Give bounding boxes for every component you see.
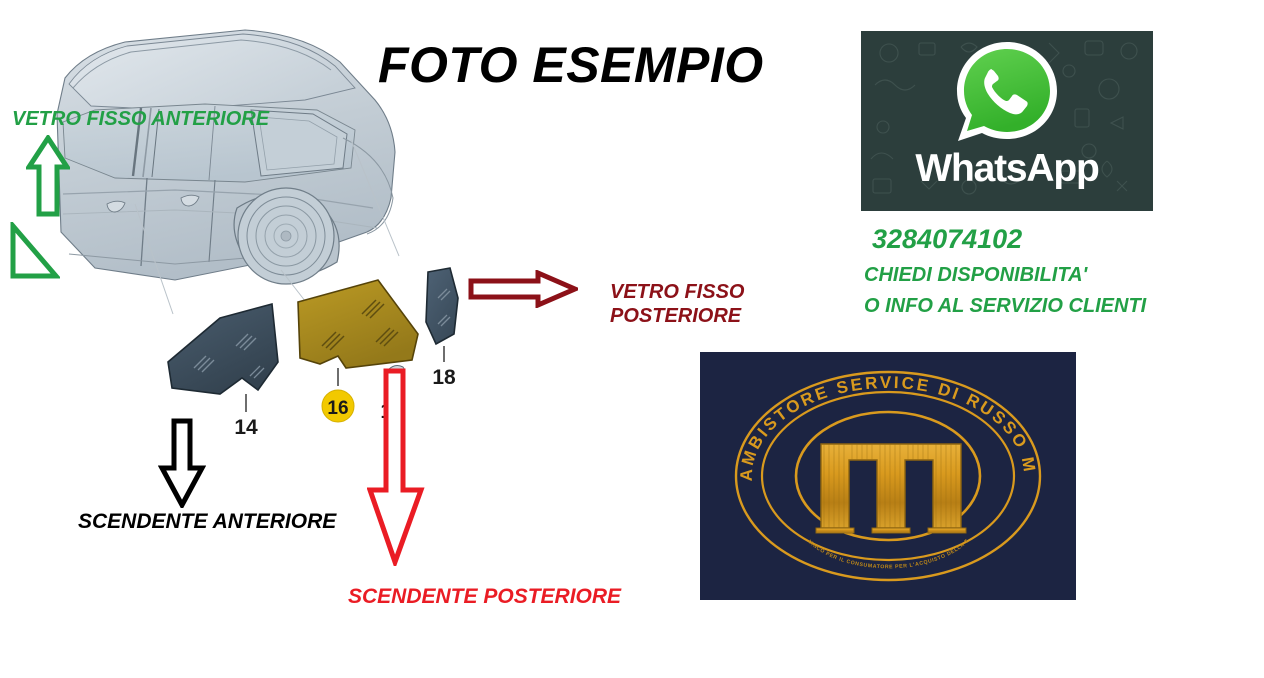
whatsapp-wordmark: WhatsApp [861,147,1153,191]
contact-line-1: CHIEDI DISPONIBILITA' [864,264,1087,287]
part-18-shape [426,268,458,362]
whatsapp-logo-icon [955,40,1059,144]
logo-monogram [816,444,966,533]
part-number-14: 14 [234,416,258,439]
green-triangle-icon [8,222,60,280]
whatsapp-banner[interactable]: WhatsApp [861,31,1153,211]
part-14-shape [168,304,278,412]
page-title: FOTO ESEMPIO [378,36,764,94]
phone-number[interactable]: 3284074102 [872,224,1022,255]
callout-line-2: POSTERIORE [610,305,744,329]
callout-vetro-fisso-anteriore: VETRO FISSO ANTERIORE [12,108,269,132]
callout-scendente-anteriore: SCENDENTE ANTERIORE [78,510,336,535]
black-down-arrow-icon [158,418,206,508]
contact-line-2: O INFO AL SERVIZIO CLIENTI [864,295,1146,318]
poster-canvas: 14 16 17 [0,0,1264,678]
callout-line-1: VETRO FISSO [610,281,744,305]
callout-scendente-posteriore: SCENDENTE POSTERIORE [348,585,621,610]
red-down-arrow-icon [367,368,425,566]
part-number-18: 18 [432,366,456,389]
callout-vetro-fisso-posteriore: VETRO FISSO POSTERIORE [610,281,744,328]
shop-logo: MRICAMBISTORE SERVICE DI RUSSO MARCO [700,352,1076,600]
part-number-16: 16 [327,398,348,419]
dark-red-right-arrow-icon [468,270,578,308]
green-up-arrow-icon [26,135,70,217]
